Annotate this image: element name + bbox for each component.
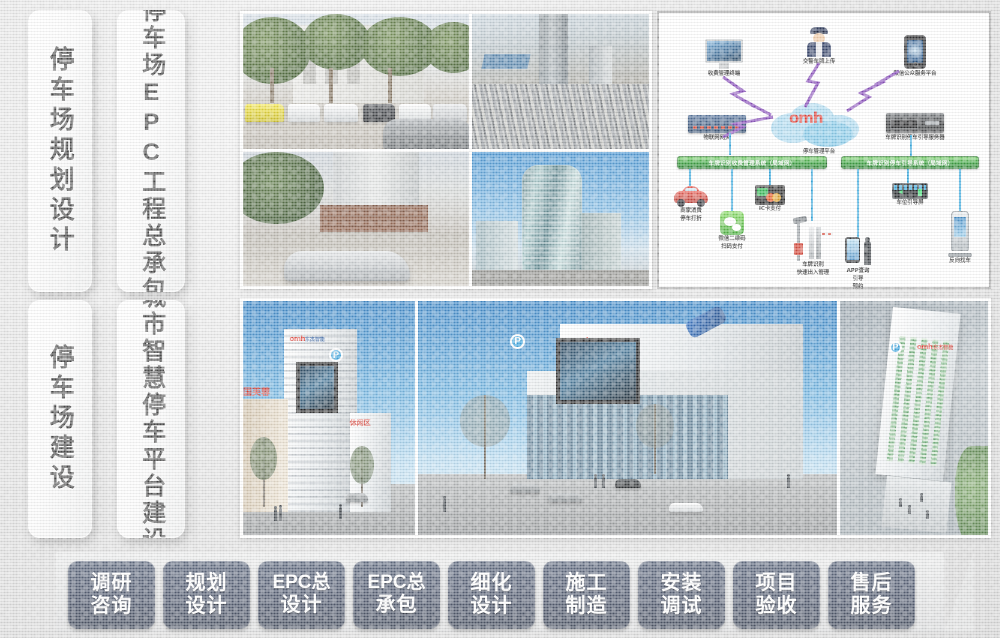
step-label-line2: 调试 bbox=[661, 595, 703, 618]
process-step-research-consulting[interactable]: 调研 咨询 bbox=[68, 561, 155, 629]
sign-a: 国芙蓉 bbox=[243, 385, 270, 398]
mobile-app-icon bbox=[845, 237, 871, 267]
step-label-line1: 售后 bbox=[851, 572, 893, 595]
merchant-discount-label-line1: 商家消费 bbox=[669, 207, 713, 215]
photo-aerial-parking-lot bbox=[472, 14, 649, 149]
parking-guidance-system-box[interactable]: 车牌识别停车引导系统（局域网） bbox=[841, 156, 979, 169]
step-label-line1: 调研 bbox=[91, 572, 133, 595]
process-step-after-sales-service[interactable]: 售后 服务 bbox=[828, 561, 915, 629]
sidebar-card-parking-construction[interactable]: 停车场建设 bbox=[28, 300, 92, 538]
smart-parking-system-diagram: omh 停车管理平台 收费管理终端 交警车牌上传 微信公众服务平台 物联网网关 … bbox=[657, 11, 991, 289]
sign-b: 休闲区 bbox=[350, 418, 371, 428]
render-parking-garage-building: omh 东杰车库 P bbox=[418, 301, 837, 535]
app-query-node: APP查询 引导 预约 bbox=[835, 237, 881, 291]
process-step-installation-commissioning[interactable]: 安装 调试 bbox=[638, 561, 725, 629]
link-bolt-wechat bbox=[845, 69, 903, 113]
sidebar-card-smart-parking-platform[interactable]: 城市智慧停车平台建设 bbox=[117, 300, 185, 538]
step-label-line2: 设计 bbox=[471, 595, 513, 618]
photo-glass-office-tower bbox=[472, 152, 649, 287]
sidebar-card-label: 城市智慧停车平台建设 bbox=[138, 300, 163, 538]
step-label-line2: 验收 bbox=[756, 595, 798, 618]
police-icon bbox=[806, 27, 832, 57]
sidebar-card-parking-epc-contracting[interactable]: 停车场EPC工程总承包 bbox=[117, 10, 185, 292]
step-label-line1: 规划 bbox=[186, 572, 228, 595]
led-guide-screen-node: ◄ 车位引导屏 bbox=[889, 183, 931, 207]
app-query-label-line2: 引导 bbox=[835, 275, 881, 283]
sidebar-card-parking-planning-design[interactable]: 停车场规划设计 bbox=[28, 10, 92, 292]
render-strip: omh 东杰智能 P 国芙蓉 休闲区 omh 东杰车库 P bbox=[240, 298, 991, 538]
process-step-detailed-design[interactable]: 细化 设计 bbox=[448, 561, 535, 629]
monitor-icon bbox=[705, 39, 743, 69]
step-label-line2: 咨询 bbox=[91, 595, 133, 618]
process-step-epc-contracting[interactable]: EPC总 承包 bbox=[353, 561, 440, 629]
poster-root: 停车场规划设计 停车场EPC工程总承包 停车场建设 城市智慧停车平台建设 bbox=[0, 0, 1000, 638]
cloud-platform-label: 停车管理平台 bbox=[767, 148, 871, 156]
render-mechanical-parking-tower: omh 东杰智能 P 国芙蓉 休闲区 bbox=[243, 301, 415, 535]
merchant-discount-node: 商家消费 停车打折 bbox=[669, 185, 713, 223]
step-label-line2: 承包 bbox=[376, 594, 418, 617]
omh-logo: omh bbox=[917, 343, 933, 351]
sidebar-card-label: 停车场建设 bbox=[47, 344, 74, 494]
connector-line bbox=[729, 133, 731, 155]
car-icon bbox=[674, 185, 708, 207]
ic-card-label: IC卡支付 bbox=[751, 205, 789, 213]
sidebar-card-label: 停车场EPC工程总承包 bbox=[138, 10, 163, 292]
connector-line bbox=[811, 169, 813, 221]
merchant-discount-label-line2: 停车打折 bbox=[669, 215, 713, 223]
barrier-gate-icon bbox=[793, 217, 833, 261]
sidebar-card-label: 停车场规划设计 bbox=[47, 46, 74, 256]
anpr-guide-server-label: 车牌识别停车引导服务器 bbox=[855, 134, 975, 142]
step-label-line2: 服务 bbox=[851, 595, 893, 618]
ic-card-icon bbox=[755, 185, 785, 205]
link-bolt-monitor bbox=[721, 75, 775, 117]
step-label-line2: 设计 bbox=[281, 594, 323, 617]
connector-line bbox=[857, 169, 859, 239]
wechat-qr-label-line1: 微信二维码 bbox=[709, 235, 755, 243]
parking-badge: P bbox=[329, 348, 343, 362]
process-flow-bar: 调研 咨询 规划 设计 EPC总 设计 EPC总 承包 细化 设计 施工 制造 bbox=[56, 552, 1000, 638]
process-step-construction-manufacturing[interactable]: 施工 制造 bbox=[543, 561, 630, 629]
omh-logo: omh bbox=[289, 335, 305, 343]
led-guide-screen-label: 车位引导屏 bbox=[889, 199, 931, 207]
brand-cn-label: 东杰智能 bbox=[305, 336, 325, 343]
led-screen-icon: ◄ bbox=[892, 183, 928, 199]
wechat-qr-pay-node: 微信二维码 扫码支付 bbox=[709, 211, 755, 251]
photo-surface-parking-lot-with-trees bbox=[243, 14, 469, 149]
step-label-line1: 施工 bbox=[566, 572, 608, 595]
wechat-icon bbox=[720, 211, 744, 235]
anpr-guide-server-node: 车牌识别停车引导服务器 bbox=[855, 113, 975, 142]
find-car-kiosk-node: 反向找车 bbox=[937, 211, 983, 265]
ic-card-pay-node: IC卡支付 bbox=[751, 185, 789, 213]
parking-badge: P bbox=[889, 341, 902, 354]
app-query-label-line1: APP查询 bbox=[835, 267, 881, 275]
process-step-list: 调研 咨询 规划 设计 EPC总 设计 EPC总 承包 细化 设计 施工 制造 bbox=[68, 561, 915, 629]
smartphone-icon bbox=[904, 35, 926, 69]
brand-cn-label: 东杰智能 bbox=[933, 344, 953, 351]
step-label-line1: 项目 bbox=[756, 572, 798, 595]
omh-logo: omh bbox=[789, 109, 823, 127]
photo-grid bbox=[240, 11, 652, 289]
charge-terminal-node: 收费管理终端 bbox=[693, 39, 755, 78]
connector-line bbox=[731, 169, 733, 213]
process-step-planning-design[interactable]: 规划 设计 bbox=[163, 561, 250, 629]
connector-line bbox=[910, 135, 912, 157]
process-step-epc-design[interactable]: EPC总 设计 bbox=[258, 561, 345, 629]
step-label-line2: 设计 bbox=[186, 595, 228, 618]
photo-parking-lot-brick-building bbox=[243, 152, 469, 287]
find-car-kiosk-label: 反向找车 bbox=[937, 257, 983, 265]
anpr-gate-label-line1: 车牌识别 bbox=[789, 261, 837, 269]
parking-badge: P bbox=[510, 334, 525, 349]
server-icon bbox=[886, 113, 944, 133]
app-query-label-line3: 预约 bbox=[835, 283, 881, 291]
wechat-qr-label-line2: 扫码支付 bbox=[709, 243, 755, 251]
step-label-line1: EPC总 bbox=[272, 572, 330, 594]
connector-line bbox=[959, 169, 961, 213]
step-label-line1: 细化 bbox=[471, 572, 513, 595]
link-bolt-police bbox=[799, 61, 829, 111]
step-label-line1: 安装 bbox=[661, 572, 703, 595]
anpr-gate-label-line2: 快速出入管理 bbox=[789, 269, 837, 277]
kiosk-icon bbox=[948, 211, 972, 257]
process-step-project-acceptance[interactable]: 项目 验收 bbox=[733, 561, 820, 629]
charge-management-system-box[interactable]: 车牌识别收费管理系统（局域网） bbox=[677, 156, 827, 169]
step-label-line1: EPC总 bbox=[367, 572, 425, 594]
step-label-line2: 制造 bbox=[566, 595, 608, 618]
anpr-gate-node: 车牌识别 快速出入管理 bbox=[789, 217, 837, 277]
render-aerial-parking-tower: P omh 东杰智能 bbox=[840, 301, 988, 535]
